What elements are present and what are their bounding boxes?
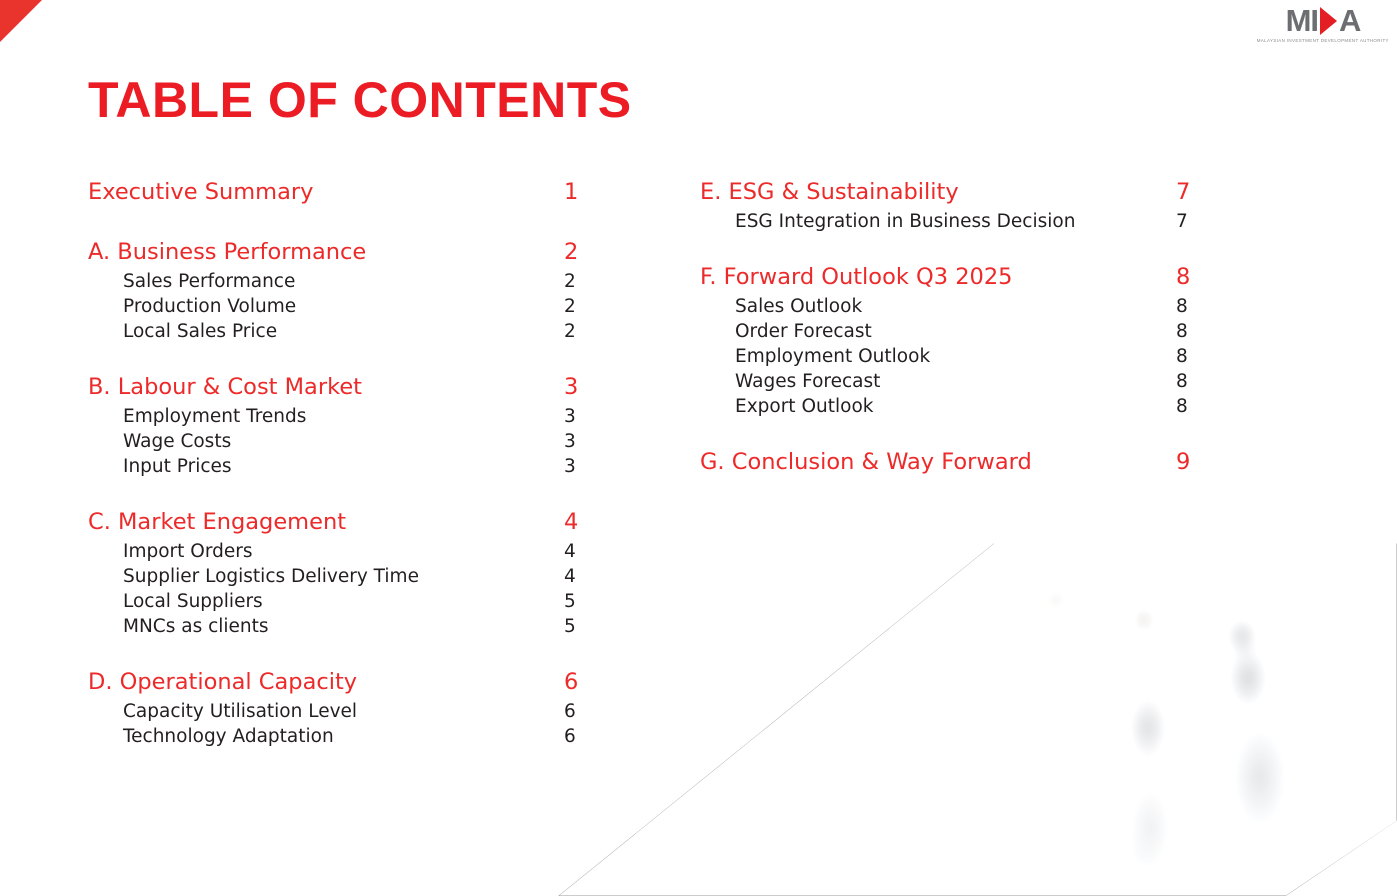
right-item-1-4-page-number: 8	[1176, 394, 1200, 419]
left-group-2: B. Labour & Cost Market3Employment Trend…	[88, 370, 588, 479]
left-section-2[interactable]: B. Labour & Cost Market3	[88, 370, 588, 404]
red-corner-triangle	[0, 0, 42, 42]
right-item-1-1-label: Order Forecast	[700, 319, 872, 344]
left-item-3-0[interactable]: Import Orders4	[88, 539, 588, 564]
slide-canvas: MI A MALAYSIAN INVESTMENT DEVELOPMENT AU…	[0, 0, 1397, 896]
left-item-2-0[interactable]: Employment Trends3	[88, 404, 588, 429]
left-section-2-page-number: 3	[564, 370, 588, 404]
left-section-0-page-number: 1	[564, 175, 588, 209]
left-section-0[interactable]: Executive Summary1	[88, 175, 588, 209]
left-item-1-2-label: Local Sales Price	[88, 319, 277, 344]
right-item-1-3-label: Wages Forecast	[700, 369, 880, 394]
page-title: TABLE OF CONTENTS	[88, 74, 632, 127]
right-group-2: G. Conclusion & Way Forward9	[700, 445, 1200, 479]
right-section-2-page-number: 9	[1176, 445, 1200, 479]
mida-chevron-icon	[1319, 6, 1338, 36]
left-item-4-0-page-number: 6	[564, 699, 588, 724]
left-item-3-3[interactable]: MNCs as clients5	[88, 614, 588, 639]
left-section-0-label: Executive Summary	[88, 175, 313, 209]
left-item-4-0[interactable]: Capacity Utilisation Level6	[88, 699, 588, 724]
left-item-3-2-label: Local Suppliers	[88, 589, 263, 614]
left-item-3-1-page-number: 4	[564, 564, 588, 589]
right-group-1: F. Forward Outlook Q3 20258Sales Outlook…	[700, 260, 1200, 419]
left-item-1-1[interactable]: Production Volume2	[88, 294, 588, 319]
toc-right-column: E. ESG & Sustainability7ESG Integration …	[700, 175, 1200, 479]
right-item-1-2-label: Employment Outlook	[700, 344, 930, 369]
mida-logo-a-text: A	[1339, 6, 1360, 36]
right-section-1-label: F. Forward Outlook Q3 2025	[700, 260, 1012, 294]
mida-logo: MI A MALAYSIAN INVESTMENT DEVELOPMENT AU…	[1257, 6, 1389, 54]
left-section-3-label: C. Market Engagement	[88, 505, 346, 539]
right-item-0-0-page-number: 7	[1176, 209, 1200, 234]
left-item-2-2-label: Input Prices	[88, 454, 232, 479]
left-item-1-0[interactable]: Sales Performance2	[88, 269, 588, 294]
right-item-1-0-label: Sales Outlook	[700, 294, 862, 319]
right-section-0-label: E. ESG & Sustainability	[700, 175, 959, 209]
office-photo	[548, 528, 1397, 896]
left-section-2-label: B. Labour & Cost Market	[88, 370, 362, 404]
left-group-1: A. Business Performance2Sales Performanc…	[88, 235, 588, 344]
right-section-0-page-number: 7	[1176, 175, 1200, 209]
right-item-1-4[interactable]: Export Outlook8	[700, 394, 1200, 419]
mida-logo-mi-text: MI	[1286, 6, 1318, 36]
left-item-4-1-page-number: 6	[564, 724, 588, 749]
left-item-2-1-label: Wage Costs	[88, 429, 231, 454]
left-item-3-3-page-number: 5	[564, 614, 588, 639]
right-section-1[interactable]: F. Forward Outlook Q3 20258	[700, 260, 1200, 294]
left-item-3-2[interactable]: Local Suppliers5	[88, 589, 588, 614]
left-section-1[interactable]: A. Business Performance2	[88, 235, 588, 269]
left-item-1-0-page-number: 2	[564, 269, 588, 294]
left-item-4-0-label: Capacity Utilisation Level	[88, 699, 357, 724]
left-item-1-2[interactable]: Local Sales Price2	[88, 319, 588, 344]
left-section-3-page-number: 4	[564, 505, 588, 539]
left-section-3[interactable]: C. Market Engagement4	[88, 505, 588, 539]
mida-logo-mark: MI A	[1286, 6, 1361, 36]
left-item-3-0-page-number: 4	[564, 539, 588, 564]
right-item-1-1-page-number: 8	[1176, 319, 1200, 344]
left-group-0: Executive Summary1	[88, 175, 588, 209]
left-item-2-2[interactable]: Input Prices3	[88, 454, 588, 479]
left-item-3-1[interactable]: Supplier Logistics Delivery Time4	[88, 564, 588, 589]
right-item-0-0-label: ESG Integration in Business Decision	[700, 209, 1075, 234]
right-item-1-2[interactable]: Employment Outlook8	[700, 344, 1200, 369]
left-item-1-1-label: Production Volume	[88, 294, 296, 319]
left-item-1-2-page-number: 2	[564, 319, 588, 344]
left-item-1-1-page-number: 2	[564, 294, 588, 319]
left-group-4: D. Operational Capacity6Capacity Utilisa…	[88, 665, 588, 749]
right-item-1-1[interactable]: Order Forecast8	[700, 319, 1200, 344]
left-item-4-1[interactable]: Technology Adaptation6	[88, 724, 588, 749]
left-section-4-page-number: 6	[564, 665, 588, 699]
right-item-1-2-page-number: 8	[1176, 344, 1200, 369]
right-item-1-0-page-number: 8	[1176, 294, 1200, 319]
right-item-0-0[interactable]: ESG Integration in Business Decision7	[700, 209, 1200, 234]
left-item-2-0-label: Employment Trends	[88, 404, 306, 429]
left-item-2-1-page-number: 3	[564, 429, 588, 454]
right-item-1-3-page-number: 8	[1176, 369, 1200, 394]
right-item-1-4-label: Export Outlook	[700, 394, 873, 419]
left-item-3-3-label: MNCs as clients	[88, 614, 269, 639]
left-item-2-1[interactable]: Wage Costs3	[88, 429, 588, 454]
right-section-1-page-number: 8	[1176, 260, 1200, 294]
right-item-1-3[interactable]: Wages Forecast8	[700, 369, 1200, 394]
right-section-0[interactable]: E. ESG & Sustainability7	[700, 175, 1200, 209]
right-group-0: E. ESG & Sustainability7ESG Integration …	[700, 175, 1200, 234]
left-group-3: C. Market Engagement4Import Orders4Suppl…	[88, 505, 588, 639]
left-item-2-0-page-number: 3	[564, 404, 588, 429]
office-photo-image	[548, 528, 1397, 896]
mida-logo-tagline: MALAYSIAN INVESTMENT DEVELOPMENT AUTHORI…	[1257, 38, 1389, 43]
toc-left-column: Executive Summary1A. Business Performanc…	[88, 175, 588, 749]
left-section-1-label: A. Business Performance	[88, 235, 366, 269]
right-item-1-0[interactable]: Sales Outlook8	[700, 294, 1200, 319]
left-item-3-0-label: Import Orders	[88, 539, 253, 564]
left-section-1-page-number: 2	[564, 235, 588, 269]
left-section-4-label: D. Operational Capacity	[88, 665, 357, 699]
right-section-2[interactable]: G. Conclusion & Way Forward9	[700, 445, 1200, 479]
right-section-2-label: G. Conclusion & Way Forward	[700, 445, 1032, 479]
left-item-3-1-label: Supplier Logistics Delivery Time	[88, 564, 419, 589]
left-item-3-2-page-number: 5	[564, 589, 588, 614]
left-section-4[interactable]: D. Operational Capacity6	[88, 665, 588, 699]
left-item-2-2-page-number: 3	[564, 454, 588, 479]
left-item-1-0-label: Sales Performance	[88, 269, 295, 294]
left-item-4-1-label: Technology Adaptation	[88, 724, 334, 749]
